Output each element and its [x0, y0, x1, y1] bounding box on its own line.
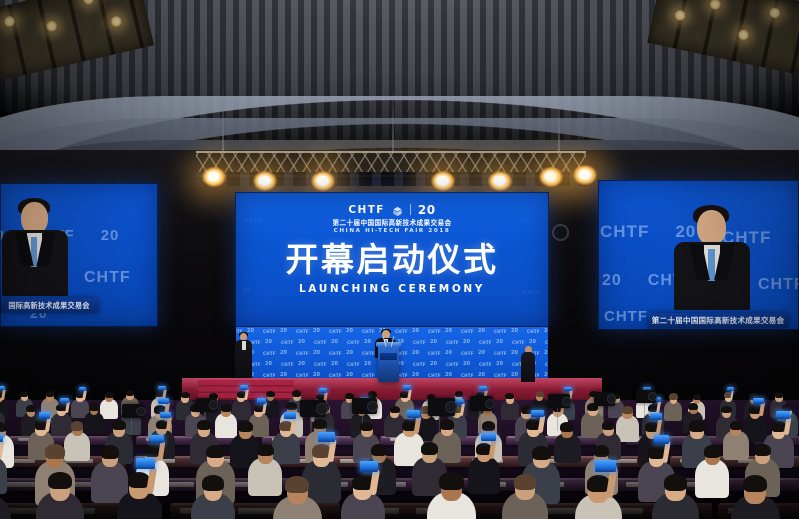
- backdrop-watermark-chtf: CHTF: [413, 340, 426, 345]
- camera-tripod: [479, 411, 481, 434]
- smartphone-screen: [257, 398, 266, 403]
- backdrop-watermark-20: 20: [364, 361, 371, 367]
- audience-hair: [286, 402, 297, 410]
- audience-hair: [421, 442, 438, 454]
- smartphone-screen: [136, 458, 155, 469]
- audience-hair: [754, 444, 771, 457]
- smartphone-screen: [727, 387, 734, 391]
- left-led-screen: 20 CHTF 20 CHTF 20 国际高新技术成果交易会: [0, 183, 158, 327]
- backdrop-watermark-20: 20: [331, 361, 338, 367]
- smartphone-screen: [481, 433, 495, 441]
- camera-lens: [648, 392, 657, 401]
- audience-hair: [112, 420, 126, 430]
- audience-hair: [532, 446, 551, 460]
- smartphone-screen: [595, 460, 616, 472]
- smartphone-screen: [407, 410, 420, 418]
- audience-torso: [100, 399, 118, 419]
- smartphone-screen: [650, 413, 662, 420]
- audience-hair: [221, 404, 232, 412]
- audience-torso: [64, 432, 89, 461]
- smartphone-screen: [0, 434, 3, 442]
- audience-hair: [45, 444, 65, 458]
- audience-hair: [514, 474, 536, 490]
- backdrop-watermark-20: 20: [313, 350, 320, 356]
- backdrop-watermark-20: 20: [496, 361, 503, 367]
- audience-hair: [368, 391, 377, 397]
- smartphone-screen: [0, 386, 5, 391]
- smartphone-screen: [319, 388, 327, 393]
- smartphone-screen: [531, 410, 544, 418]
- backdrop-watermark-20: 20: [412, 328, 419, 334]
- stage-attendant-shirt: [242, 341, 246, 350]
- spotlight-hotspot: [436, 175, 449, 186]
- backdrop-watermark-20: 20: [478, 350, 485, 356]
- smartphone-screen: [479, 386, 487, 390]
- smartphone-screen: [318, 432, 335, 442]
- audience-hair: [89, 403, 99, 410]
- audience-hair: [455, 391, 463, 397]
- audience-hair: [721, 406, 732, 414]
- audience-hair: [46, 391, 55, 397]
- podium-top: [376, 342, 401, 347]
- backdrop-watermark-20: 20: [463, 361, 470, 367]
- audience-hair: [730, 421, 742, 430]
- podium-nameplate: [380, 353, 397, 360]
- right-led-screen: CHTF 20 CHTF 20 20 CHTF CHTF CHTF 第二十届中国…: [598, 180, 799, 330]
- audience-hair: [782, 404, 792, 411]
- smartphone-screen: [150, 435, 164, 443]
- backdrop-watermark-chtf: CHTF: [428, 329, 441, 334]
- backdrop-watermark-chtf: CHTF: [314, 362, 327, 367]
- backdrop-watermark-chtf: CHTF: [413, 362, 426, 367]
- truss-wire: [558, 80, 560, 152]
- audience-torso: [84, 412, 104, 435]
- backdrop-watermark-20: 20: [346, 350, 353, 356]
- backdrop-watermark-20: 20: [445, 350, 452, 356]
- stage-crew-body: [521, 352, 535, 382]
- backdrop-watermark-20: 20: [265, 361, 272, 367]
- audience-hair: [743, 475, 767, 493]
- backdrop-watermark-20: 20: [496, 339, 503, 345]
- audience-hair: [505, 393, 514, 399]
- backdrop-watermark-chtf: CHTF: [479, 340, 492, 345]
- audience-hair: [360, 422, 373, 432]
- backdrop-watermark-20: 20: [529, 339, 536, 345]
- backdrop-watermark-chtf: CHTF: [347, 362, 360, 367]
- audience-hair: [257, 444, 274, 456]
- backdrop-watermark-chtf: CHTF: [296, 329, 309, 334]
- backdrop-watermark-20: 20: [412, 350, 419, 356]
- audience-hair: [181, 392, 190, 399]
- backdrop-watermark-chtf: CHTF: [545, 362, 548, 367]
- truss-wire: [222, 78, 224, 152]
- backdrop-watermark-20: 20: [430, 361, 437, 367]
- audience-hair: [292, 390, 301, 397]
- backdrop-watermark-chtf: CHTF: [494, 351, 507, 356]
- backdrop-watermark-chtf: CHTF: [395, 329, 408, 334]
- audience-hair: [440, 419, 454, 429]
- backdrop-watermark-chtf: CHTF: [446, 340, 459, 345]
- audience-hair: [439, 472, 463, 490]
- conference-hall-scene: 20 CHTF 20 CHTF 20 国际高新技术成果交易会 CHTF 20: [0, 0, 799, 519]
- backdrop-watermark-20: 20: [544, 350, 548, 356]
- spotlight-hotspot: [544, 171, 557, 182]
- main-screen-bezel: [235, 192, 549, 327]
- audience-hair: [536, 391, 544, 397]
- audience-hair: [285, 476, 309, 493]
- backdrop-watermark-20: 20: [511, 350, 518, 356]
- backdrop-watermark-20: 20: [478, 328, 485, 334]
- audience-hair: [560, 422, 573, 432]
- smartphone-screen: [158, 386, 166, 390]
- camera-lens: [136, 407, 146, 417]
- backdrop-watermark-chtf: CHTF: [329, 351, 342, 356]
- audience-hair: [664, 474, 687, 491]
- backdrop-watermark-chtf: CHTF: [362, 329, 375, 334]
- audience-hair: [693, 394, 701, 400]
- backdrop-watermark-chtf: CHTF: [263, 351, 276, 356]
- audience-hair: [313, 419, 327, 429]
- camera-lens: [607, 394, 616, 403]
- audience-hair: [71, 421, 84, 430]
- backdrop-watermark-chtf: CHTF: [281, 340, 294, 345]
- smartphone-screen: [240, 385, 248, 390]
- backdrop-watermark-20: 20: [313, 328, 320, 334]
- backdrop-watermark-chtf: CHTF: [479, 362, 492, 367]
- backdrop-watermark-20: 20: [511, 328, 518, 334]
- smartphone-screen: [403, 385, 411, 390]
- audience-hair: [688, 403, 698, 410]
- backdrop-watermark-chtf: CHTF: [329, 329, 342, 334]
- backdrop-watermark-20: 20: [331, 339, 338, 345]
- camera-lens: [316, 403, 328, 415]
- audience-hair: [704, 445, 721, 457]
- smartphone-screen: [654, 435, 670, 444]
- smartphone-screen: [60, 398, 69, 403]
- backdrop-watermark-chtf: CHTF: [281, 362, 294, 367]
- backdrop-watermark-20: 20: [298, 339, 305, 345]
- audience-hair: [26, 405, 36, 412]
- camera-lens: [562, 397, 572, 407]
- smartphone-screen: [160, 412, 171, 418]
- spotlight-hotspot: [316, 175, 329, 186]
- right-screen-bezel: [598, 180, 799, 330]
- audience-hair: [238, 421, 253, 432]
- spotlight-hotspot: [258, 175, 271, 186]
- audience-hair: [602, 421, 614, 430]
- backdrop-watermark-chtf: CHTF: [347, 340, 360, 345]
- backdrop-watermark-20: 20: [265, 339, 272, 345]
- backdrop-watermark-20: 20: [280, 328, 287, 334]
- backdrop-watermark-chtf: CHTF: [527, 329, 540, 334]
- backdrop-watermark-chtf: CHTF: [263, 329, 276, 334]
- audience-torso: [468, 456, 501, 493]
- audience-hair: [775, 392, 783, 398]
- audience-hair: [206, 445, 225, 459]
- smartphone-screen: [158, 398, 168, 404]
- smartphone-screen: [39, 412, 50, 418]
- audience-hair: [202, 475, 223, 491]
- audience-hair: [371, 444, 387, 456]
- camera-lens: [485, 399, 495, 409]
- center-led-screen: CHTF 20 20 CHTF CHTF 20: [235, 192, 549, 327]
- backdrop-watermark-20: 20: [430, 339, 437, 345]
- camera-tripod: [644, 403, 646, 423]
- backdrop-watermark-chtf: CHTF: [428, 351, 441, 356]
- smartphone-screen: [360, 461, 379, 472]
- spotlight-hotspot: [493, 175, 506, 186]
- audience-hair: [266, 391, 275, 397]
- backdrop-watermark-chtf: CHTF: [512, 340, 525, 345]
- backdrop-watermark-chtf: CHTF: [545, 340, 548, 345]
- smartphone-screen: [284, 412, 296, 419]
- backdrop-watermark-20: 20: [544, 328, 548, 334]
- backdrop-watermark-20: 20: [346, 328, 353, 334]
- backdrop-watermark-20: 20: [280, 350, 287, 356]
- truss-wire: [392, 86, 394, 152]
- backdrop-watermark-chtf: CHTF: [446, 362, 459, 367]
- backdrop-watermark-chtf: CHTF: [461, 329, 474, 334]
- backdrop-watermark-20: 20: [445, 328, 452, 334]
- audience-hair: [482, 421, 495, 431]
- audience-hair: [101, 445, 119, 458]
- backdrop-watermark-20: 20: [298, 361, 305, 367]
- backdrop-watermark-chtf: CHTF: [314, 340, 327, 345]
- backdrop-watermark-chtf: CHTF: [494, 329, 507, 334]
- audience-hair: [669, 393, 678, 399]
- audience-hair: [48, 472, 72, 489]
- audience-hair: [20, 391, 28, 397]
- audience-hair: [197, 420, 211, 430]
- audience-hair: [689, 420, 704, 431]
- smartphone-screen: [564, 387, 572, 391]
- backdrop-watermark-chtf: CHTF: [362, 351, 375, 356]
- backdrop-watermark-20: 20: [364, 339, 371, 345]
- audience-hair: [594, 445, 610, 457]
- camera-tripod: [557, 408, 559, 430]
- audience-hair: [105, 392, 114, 398]
- left-screen-bezel: [0, 183, 158, 327]
- smartphone-screen: [79, 387, 86, 391]
- backdrop-watermark-20: 20: [247, 328, 254, 334]
- audience-hair: [126, 390, 134, 396]
- backdrop-watermark-chtf: CHTF: [296, 351, 309, 356]
- spotlight-hotspot: [207, 171, 220, 182]
- backdrop-watermark-chtf: CHTF: [461, 351, 474, 356]
- spotlight-hotspot: [578, 169, 591, 180]
- audience-torso: [695, 459, 729, 498]
- backdrop-watermark-20: 20: [463, 339, 470, 345]
- audience-hair: [390, 406, 400, 413]
- camera-lens: [209, 400, 218, 409]
- audience-hair: [622, 406, 634, 414]
- smartphone-screen: [753, 398, 763, 404]
- smartphone-screen: [776, 411, 789, 419]
- podium: [378, 344, 399, 382]
